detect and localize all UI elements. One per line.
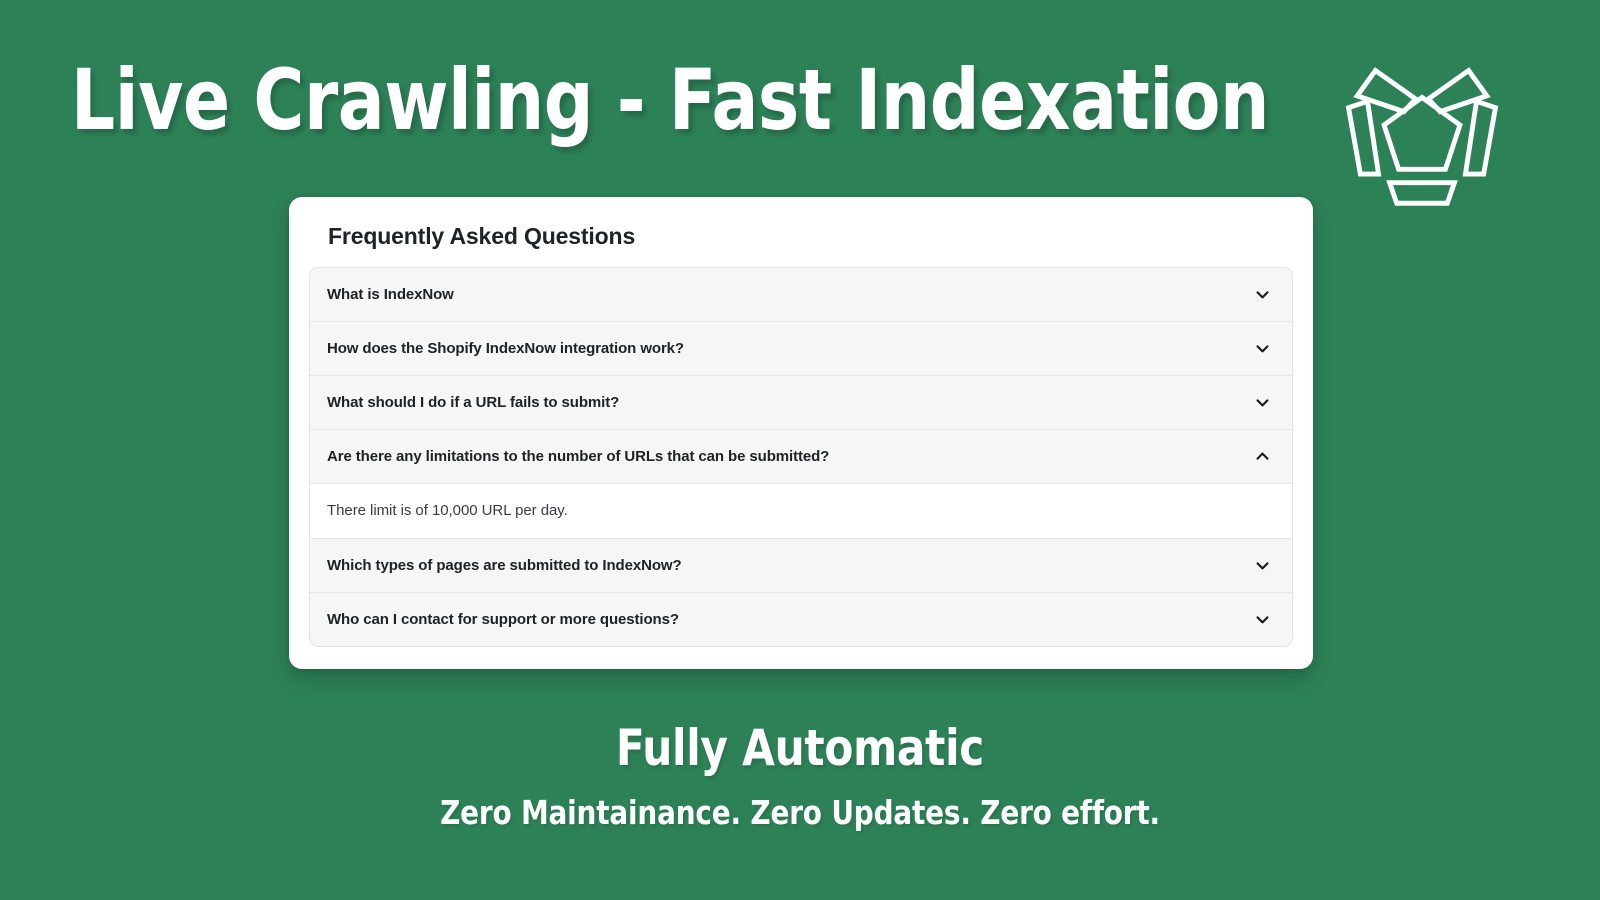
faq-question: How does the Shopify IndexNow integratio… [327,340,684,357]
faq-answer: There limit is of 10,000 URL per day. [310,483,1292,538]
faq-accordion: What is IndexNow How does the Shopify In… [309,267,1293,647]
faq-item-header[interactable]: How does the Shopify IndexNow integratio… [310,322,1292,375]
faq-item: How does the Shopify IndexNow integratio… [310,321,1292,375]
pentagon-logo-icon [1343,50,1501,208]
faq-item-header[interactable]: Are there any limitations to the number … [310,430,1292,483]
chevron-down-icon[interactable] [1254,286,1271,303]
faq-item: What is IndexNow [310,268,1292,321]
chevron-down-icon[interactable] [1254,394,1271,411]
faq-item-header[interactable]: What should I do if a URL fails to submi… [310,376,1292,429]
faq-item: Which types of pages are submitted to In… [310,538,1292,592]
faq-item-header[interactable]: Which types of pages are submitted to In… [310,539,1292,592]
promo-banner-page: { "theme": { "background_green": "#2d815… [0,0,1600,900]
faq-question: What should I do if a URL fails to submi… [327,394,619,411]
faq-card: Frequently Asked Questions What is Index… [289,197,1313,669]
chevron-down-icon[interactable] [1254,557,1271,574]
faq-question: What is IndexNow [327,286,454,303]
chevron-down-icon[interactable] [1254,340,1271,357]
footer-title: Fully Automatic [48,722,1552,775]
faq-heading: Frequently Asked Questions [309,223,1293,250]
footer-subtitle: Zero Maintainance. Zero Updates. Zero ef… [48,795,1552,831]
chevron-down-icon[interactable] [1254,611,1271,628]
faq-question: Which types of pages are submitted to In… [327,557,682,574]
faq-item-expanded: Are there any limitations to the number … [310,429,1292,538]
faq-item: What should I do if a URL fails to submi… [310,375,1292,429]
hero-section: Live Crawling - Fast Indexation [0,56,1340,144]
page-title: Live Crawling - Fast Indexation [54,56,1287,144]
faq-item: Who can I contact for support or more qu… [310,592,1292,646]
faq-question: Who can I contact for support or more qu… [327,611,679,628]
faq-question: Are there any limitations to the number … [327,448,829,465]
chevron-up-icon[interactable] [1254,448,1271,465]
footer-section: Fully Automatic Zero Maintainance. Zero … [0,722,1600,831]
faq-item-header[interactable]: Who can I contact for support or more qu… [310,593,1292,646]
faq-item-header[interactable]: What is IndexNow [310,268,1292,321]
